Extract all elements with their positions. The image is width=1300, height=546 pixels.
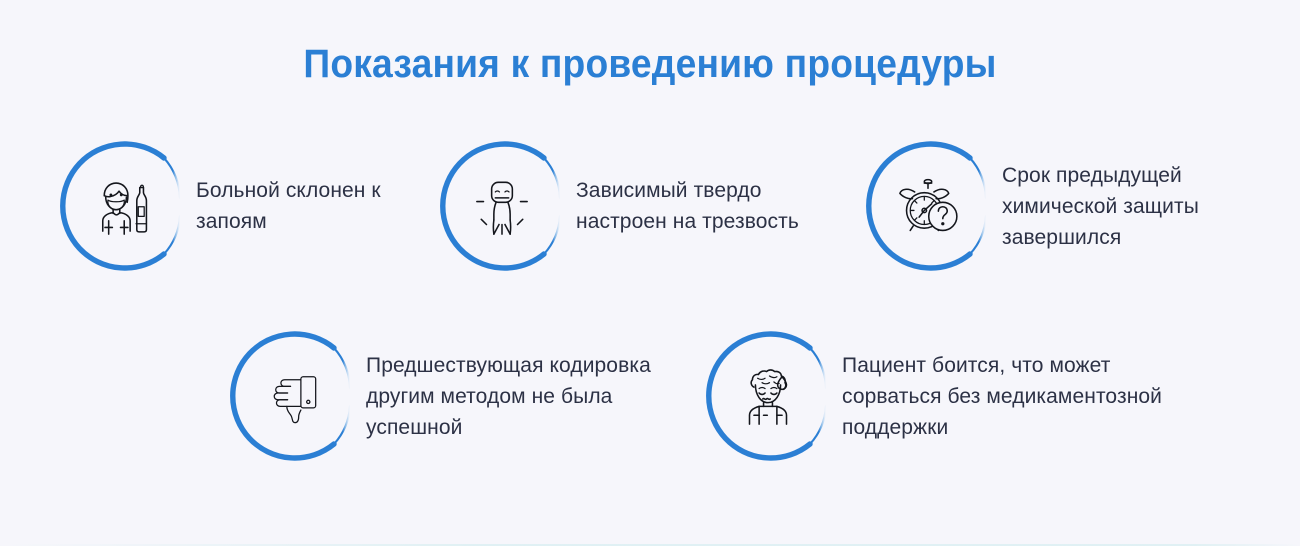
icon-badge-1	[52, 136, 192, 276]
infographic-page: Показания к проведению процедуры	[0, 0, 1300, 546]
badge-ring-2	[432, 136, 572, 276]
badge-ring-3	[858, 136, 998, 276]
indication-label-3: Срок предыдущей химической защиты заверш…	[1002, 160, 1252, 253]
badge-ring-1	[52, 136, 192, 276]
indication-label-2: Зависимый твердо настроен на трезвость	[576, 175, 808, 237]
indication-item-1: Больной склонен к запоям	[52, 136, 431, 276]
indication-item-3: Срок предыдущей химической защиты заверш…	[858, 136, 1252, 276]
badge-ring-5	[698, 326, 838, 466]
icon-badge-4	[222, 326, 362, 466]
icon-badge-5	[698, 326, 838, 466]
page-title: Показания к проведению процедуры	[46, 40, 1255, 88]
badge-ring-4	[222, 326, 362, 466]
indication-item-4: Предшествующая кодировка другим методом …	[222, 326, 696, 466]
indication-item-2: Зависимый твердо настроен на трезвость	[432, 136, 808, 276]
indication-label-4: Предшествующая кодировка другим методом …	[366, 350, 696, 443]
indication-label-5: Пациент боится, что может сорваться без …	[842, 350, 1202, 443]
icon-badge-3	[858, 136, 998, 276]
icon-badge-2	[432, 136, 572, 276]
indication-item-5: Пациент боится, что может сорваться без …	[698, 326, 1202, 466]
indication-label-1: Больной склонен к запоям	[196, 175, 431, 237]
